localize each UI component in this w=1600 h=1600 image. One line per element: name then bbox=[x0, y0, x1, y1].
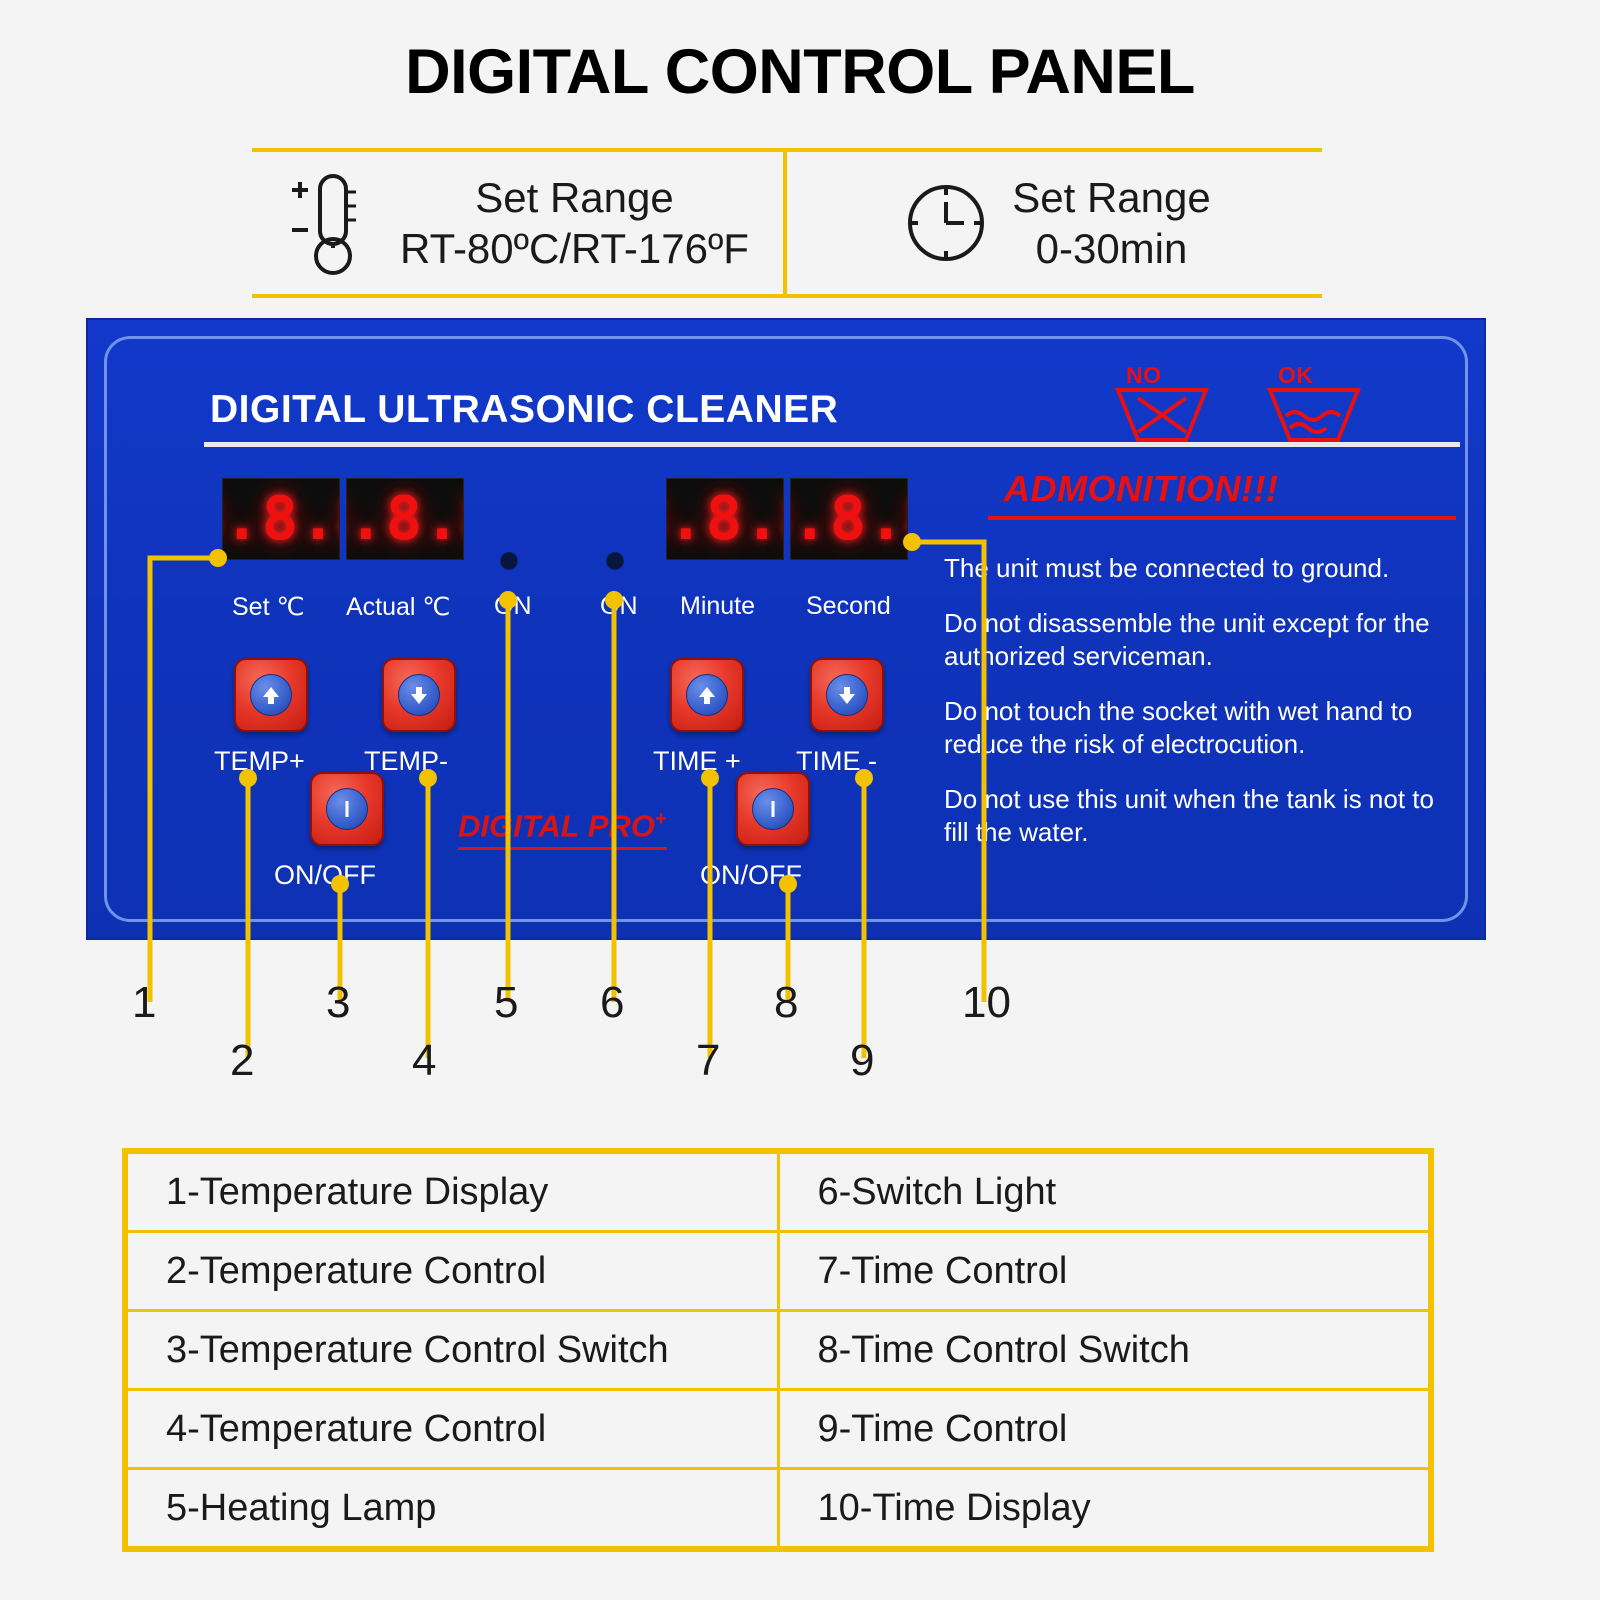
temp-up-button[interactable] bbox=[234, 658, 308, 732]
heating-lamp-indicator bbox=[500, 552, 518, 570]
digital-pro-text: DIGITAL PRO bbox=[458, 808, 655, 843]
arrow-up-icon bbox=[686, 674, 728, 716]
time-up-button[interactable] bbox=[670, 658, 744, 732]
spec-time-text: Set Range 0-30min bbox=[1012, 172, 1210, 274]
digital-pro-plus: + bbox=[655, 808, 667, 830]
spec-time-range: Set Range 0-30min bbox=[787, 152, 1322, 294]
led-display-minute: 8.8.8 bbox=[666, 478, 784, 560]
legend-cell-right: 6-Switch Light bbox=[778, 1153, 1430, 1232]
legend-cell-right: 8-Time Control Switch bbox=[778, 1311, 1430, 1390]
label-actual-temp: Actual ℃ bbox=[346, 592, 451, 622]
label-minute: Minute bbox=[680, 592, 755, 621]
switch-light-indicator bbox=[606, 552, 624, 570]
callout-number-2: 2 bbox=[230, 1036, 254, 1086]
led-display-actual-temp: 8.8.8 bbox=[346, 478, 464, 560]
led-minute-value: 8.8.8 bbox=[666, 489, 784, 549]
admonition-item: Do not disassemble the unit except for t… bbox=[944, 607, 1454, 673]
led-display-second: 8.8.8 bbox=[790, 478, 908, 560]
label-time-onoff: ON/OFF bbox=[700, 860, 802, 891]
basket-ok-icon: OK bbox=[1260, 368, 1368, 446]
legend-table: 1-Temperature Display 6-Switch Light 2-T… bbox=[122, 1148, 1434, 1552]
label-set-temp: Set ℃ bbox=[232, 592, 305, 622]
callout-number-10: 10 bbox=[962, 978, 1011, 1028]
arrow-down-icon bbox=[398, 674, 440, 716]
temp-down-button[interactable] bbox=[382, 658, 456, 732]
table-row: 4-Temperature Control 9-Time Control bbox=[127, 1390, 1430, 1469]
callout-number-7: 7 bbox=[696, 1036, 720, 1086]
admonition-list: The unit must be connected to ground. Do… bbox=[944, 552, 1454, 871]
spec-temperature-text: Set Range RT-80ºC/RT-176ºF bbox=[400, 172, 749, 274]
page-title: DIGITAL CONTROL PANEL bbox=[0, 36, 1600, 108]
led-display-set-temp: 8.8.8 bbox=[222, 478, 340, 560]
legend-cell-right: 9-Time Control bbox=[778, 1390, 1430, 1469]
callout-number-1: 1 bbox=[132, 978, 156, 1028]
digital-pro-logo: DIGITAL PRO+ bbox=[458, 808, 667, 850]
label-temp-down: TEMP- bbox=[364, 746, 448, 777]
time-down-button[interactable] bbox=[810, 658, 884, 732]
basket-no-icon: NO bbox=[1108, 368, 1216, 446]
label-on-heating: ON bbox=[494, 592, 532, 621]
admonition-item: Do not use this unit when the tank is no… bbox=[944, 783, 1454, 849]
arrow-down-icon bbox=[826, 674, 868, 716]
basket-no-label: NO bbox=[1126, 362, 1162, 389]
legend-cell-left: 5-Heating Lamp bbox=[127, 1469, 779, 1548]
label-temp-onoff: ON/OFF bbox=[274, 860, 376, 891]
admonition-title: ADMONITION!!! bbox=[1004, 468, 1278, 510]
legend-cell-left: 4-Temperature Control bbox=[127, 1390, 779, 1469]
legend-cell-left: 1-Temperature Display bbox=[127, 1153, 779, 1232]
spec-temperature-line2: RT-80ºC/RT-176ºF bbox=[400, 223, 749, 274]
callout-number-8: 8 bbox=[774, 978, 798, 1028]
led-set-temp-value: 8.8.8 bbox=[222, 489, 340, 549]
clock-icon bbox=[898, 168, 994, 278]
label-time-up: TIME + bbox=[653, 746, 741, 777]
legend-cell-left: 3-Temperature Control Switch bbox=[127, 1311, 779, 1390]
table-row: 5-Heating Lamp 10-Time Display bbox=[127, 1469, 1430, 1548]
basket-ok-label: OK bbox=[1278, 362, 1314, 389]
label-time-down: TIME - bbox=[796, 746, 877, 777]
legend-cell-left: 2-Temperature Control bbox=[127, 1232, 779, 1311]
label-temp-up: TEMP+ bbox=[214, 746, 305, 777]
control-panel: DIGITAL ULTRASONIC CLEANER NO OK 8.8.8 bbox=[86, 318, 1486, 940]
table-row: 1-Temperature Display 6-Switch Light bbox=[127, 1153, 1430, 1232]
callout-number-4: 4 bbox=[412, 1036, 436, 1086]
spec-time-line2: 0-30min bbox=[1012, 223, 1210, 274]
spec-time-line1: Set Range bbox=[1012, 172, 1210, 223]
label-second: Second bbox=[806, 592, 891, 621]
page-root: DIGITAL CONTROL PANEL Set Range RT-80ºC/… bbox=[0, 0, 1600, 1600]
panel-brand-title: DIGITAL ULTRASONIC CLEANER bbox=[210, 388, 838, 432]
callout-number-5: 5 bbox=[494, 978, 518, 1028]
power-icon bbox=[752, 788, 794, 830]
admonition-item: The unit must be connected to ground. bbox=[944, 552, 1454, 585]
led-second-value: 8.8.8 bbox=[790, 489, 908, 549]
legend-cell-right: 7-Time Control bbox=[778, 1232, 1430, 1311]
legend-cell-right: 10-Time Display bbox=[778, 1469, 1430, 1548]
table-row: 2-Temperature Control 7-Time Control bbox=[127, 1232, 1430, 1311]
arrow-up-icon bbox=[250, 674, 292, 716]
spec-temperature-line1: Set Range bbox=[400, 172, 749, 223]
label-on-switch: ON bbox=[600, 592, 638, 621]
admonition-divider bbox=[988, 516, 1456, 520]
callout-number-9: 9 bbox=[850, 1036, 874, 1086]
time-onoff-button[interactable] bbox=[736, 772, 810, 846]
power-icon bbox=[326, 788, 368, 830]
temp-onoff-button[interactable] bbox=[310, 772, 384, 846]
led-actual-temp-value: 8.8.8 bbox=[346, 489, 464, 549]
spec-bar: Set Range RT-80ºC/RT-176ºF Set Range 0-3… bbox=[252, 148, 1322, 298]
thermometer-icon bbox=[286, 168, 382, 278]
table-row: 3-Temperature Control Switch 8-Time Cont… bbox=[127, 1311, 1430, 1390]
callout-number-3: 3 bbox=[326, 978, 350, 1028]
spec-temperature-range: Set Range RT-80ºC/RT-176ºF bbox=[252, 152, 787, 294]
callout-number-6: 6 bbox=[600, 978, 624, 1028]
admonition-item: Do not touch the socket with wet hand to… bbox=[944, 695, 1454, 761]
